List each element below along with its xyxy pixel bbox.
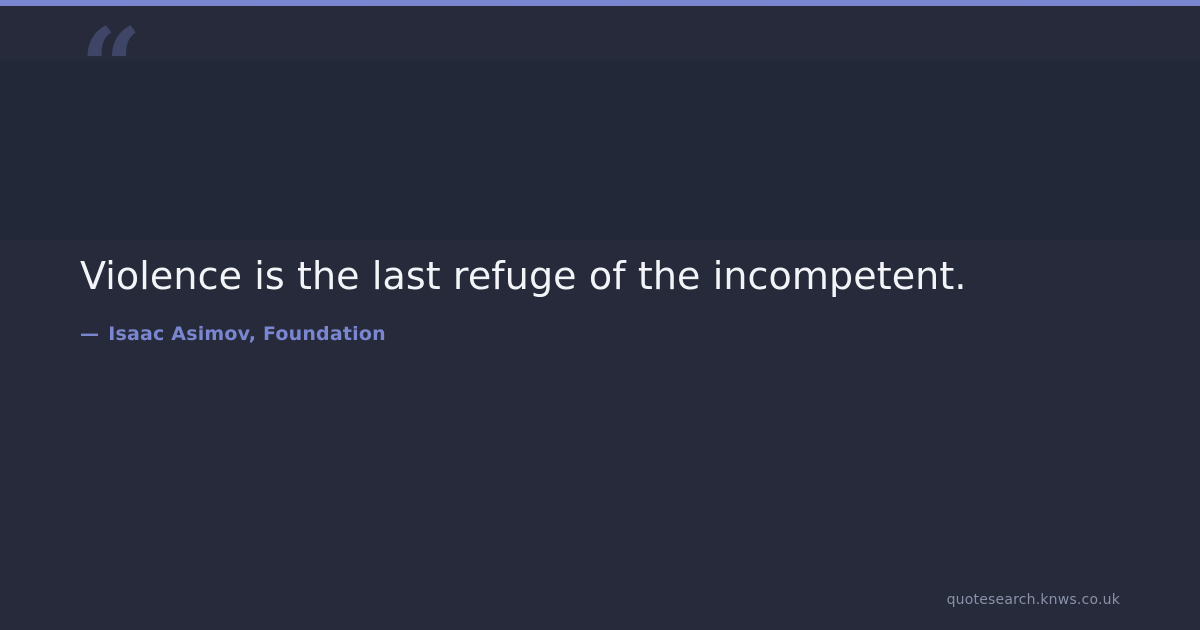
attribution-label: Isaac Asimov, Foundation [108, 323, 386, 345]
quote-card: “ Violence is the last refuge of the inc… [0, 0, 1200, 630]
quotation-mark-icon: “ [80, 14, 140, 122]
quote-content: Violence is the last refuge of the incom… [80, 252, 1120, 345]
quote-attribution: —Isaac Asimov, Foundation [80, 301, 1120, 346]
top-accent-bar [0, 0, 1200, 6]
quote-text: Violence is the last refuge of the incom… [80, 252, 1120, 301]
site-watermark: quotesearch.knws.co.uk [947, 592, 1120, 608]
attribution-dash: — [80, 323, 99, 345]
